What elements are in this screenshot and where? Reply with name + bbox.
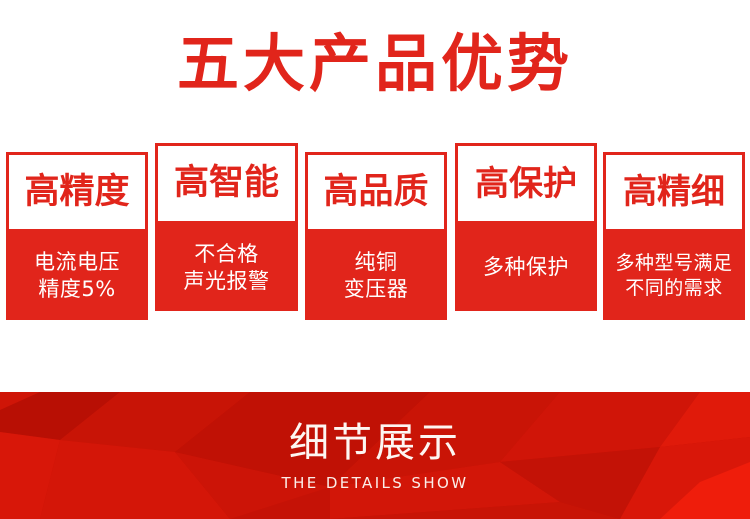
advantage-card-5: 高精细 多种型号满足 不同的需求 [603,152,745,320]
advantage-card-4-description: 多种保护 [483,254,569,281]
advantage-card-5-header: 高精细 [603,152,745,232]
advantage-card-3-header: 高品质 [305,152,447,232]
details-banner: 细节展示 THE DETAILS SHOW [0,392,750,519]
advantage-card-1-body: 电流电压 精度5% [6,232,148,320]
advantage-card-1-heading: 高精度 [24,175,129,210]
advantage-card-5-heading: 高精细 [623,175,725,209]
advantage-card-1-description: 电流电压 精度5% [34,249,120,303]
advantage-card-4-header: 高保护 [455,143,597,224]
advantage-card-4: 高保护 多种保护 [455,143,597,311]
banner-title: 细节展示 [289,420,461,466]
advantage-card-3-body: 纯铜 变压器 [305,232,447,320]
advantage-card-3: 高品质 纯铜 变压器 [305,152,447,320]
advantage-card-2-description: 不合格 声光报警 [184,241,270,295]
banner-text-group: 细节展示 THE DETAILS SHOW [0,392,750,519]
advantages-row: 高精度 电流电压 精度5% 高智能 不合格 声光报警 高品质 纯铜 变压器 高保… [0,0,750,392]
advantage-card-2-heading: 高智能 [174,166,279,201]
advantage-card-2-header: 高智能 [155,143,298,224]
advantage-card-1-header: 高精度 [6,152,148,232]
advantage-card-5-body: 多种型号满足 不同的需求 [603,232,745,320]
advantage-card-2-body: 不合格 声光报警 [155,224,298,311]
banner-subtitle: THE DETAILS SHOW [282,474,469,492]
advantage-card-3-heading: 高品质 [323,175,428,210]
advantage-card-4-body: 多种保护 [455,224,597,311]
advantage-card-3-description: 纯铜 变压器 [344,249,409,303]
advantage-card-1: 高精度 电流电压 精度5% [6,152,148,320]
advantage-card-2: 高智能 不合格 声光报警 [155,143,298,311]
advantage-card-4-heading: 高保护 [475,167,577,201]
advantage-card-5-description: 多种型号满足 不同的需求 [615,251,732,301]
